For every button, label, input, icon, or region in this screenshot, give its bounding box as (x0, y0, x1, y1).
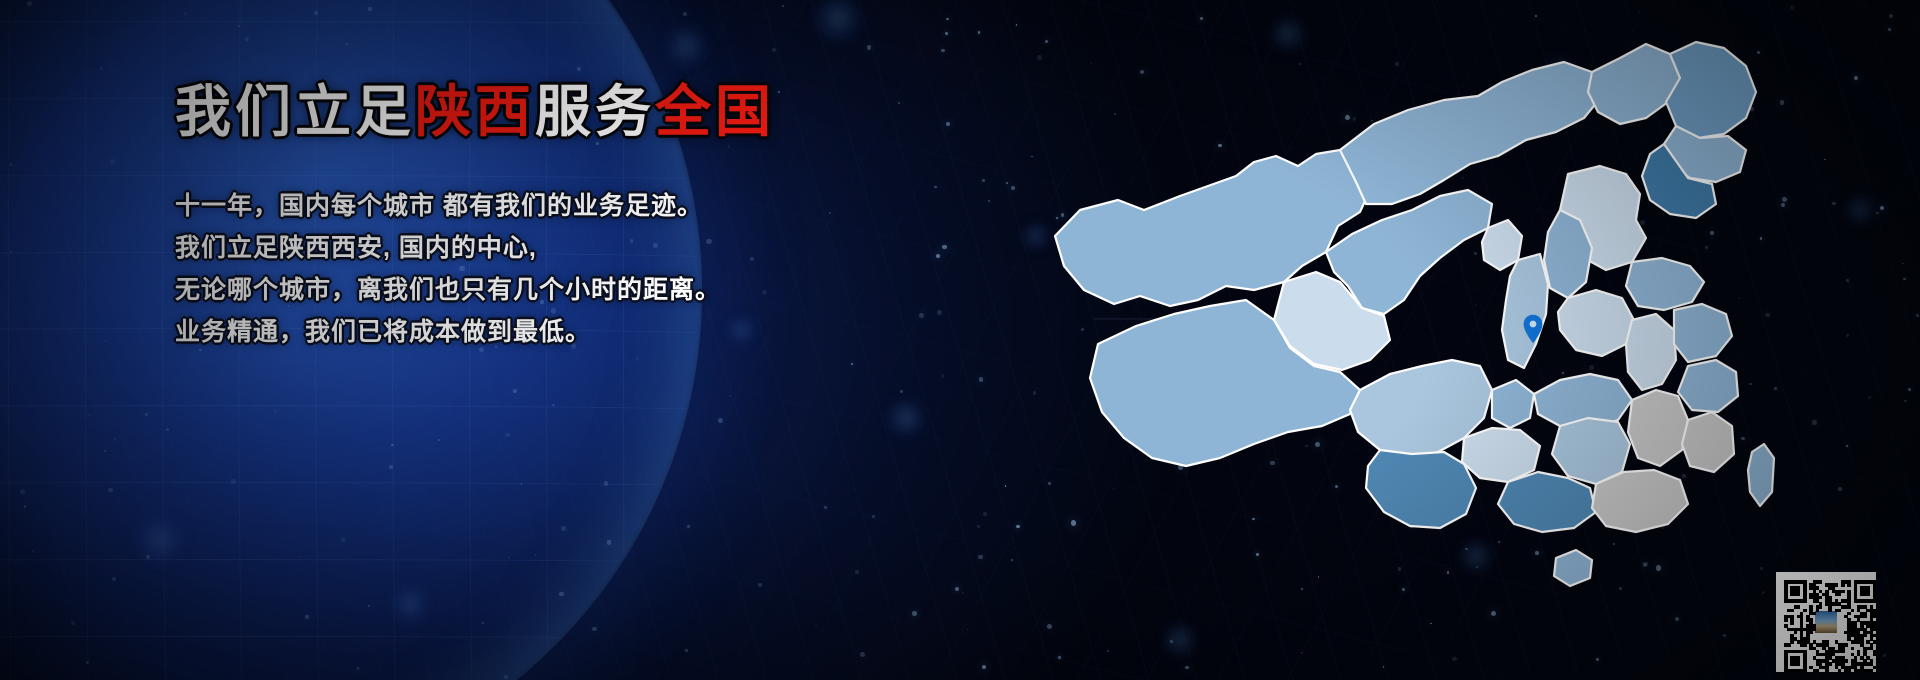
page-title: 我们立足陕西服务全国 (175, 82, 935, 141)
map-provinces (1055, 42, 1774, 586)
province-inner-mongolia (1340, 62, 1602, 204)
copy-block: 我们立足陕西服务全国 十一年，国内每个城市 都有我们的业务足迹。我们立足陕西西安… (175, 82, 935, 353)
banner-stage: 我们立足陕西服务全国 十一年，国内每个城市 都有我们的业务足迹。我们立足陕西西安… (0, 0, 1920, 680)
province-chongqing (1492, 380, 1534, 428)
province-guangxi (1498, 472, 1596, 532)
province-zhejiang (1678, 360, 1738, 412)
glow-blob-8 (390, 584, 430, 624)
glow-blob-7 (134, 514, 186, 566)
body-paragraph: 十一年，国内每个城市 都有我们的业务足迹。我们立足陕西西安, 国内的中心,无论哪… (175, 185, 935, 353)
location-pin-icon[interactable] (1522, 314, 1544, 344)
body-line-1: 十一年，国内每个城市 都有我们的业务足迹。 (175, 185, 935, 227)
headline-segment-0: 我们立足 (175, 80, 415, 143)
headline-segment-3: 全国 (655, 80, 775, 143)
province-yunnan (1366, 450, 1476, 528)
headline-segment-1: 陕西 (415, 80, 535, 143)
body-line-3: 无论哪个城市，离我们也只有几个小时的距离。 (175, 269, 935, 311)
province-anhui (1626, 314, 1676, 390)
china-map (1040, 14, 1850, 674)
glow-blob-3 (886, 398, 926, 438)
province-fujian (1682, 412, 1734, 472)
province-guizhou (1462, 428, 1540, 482)
glow-blob-5 (664, 24, 708, 68)
province-shaanxi (1502, 254, 1548, 368)
wechat-qr-code[interactable] (1776, 572, 1876, 672)
province-inner-mongolia-east (1588, 44, 1680, 124)
province-henan (1558, 290, 1634, 356)
province-jiangsu (1674, 304, 1732, 362)
qr-code-pattern (1780, 576, 1872, 668)
body-line-2: 我们立足陕西西安, 国内的中心, (175, 227, 935, 269)
province-heilongjiang (1666, 42, 1756, 138)
body-line-4: 业务精通，我们已将成本做到最低。 (175, 311, 935, 353)
province-hainan (1554, 550, 1592, 586)
province-taiwan (1748, 444, 1774, 506)
province-shandong (1626, 258, 1704, 310)
province-jiangxi (1628, 390, 1688, 466)
province-guangdong (1592, 470, 1688, 532)
headline-segment-2: 服务 (535, 80, 655, 143)
qr-center-logo-icon (1813, 609, 1839, 635)
